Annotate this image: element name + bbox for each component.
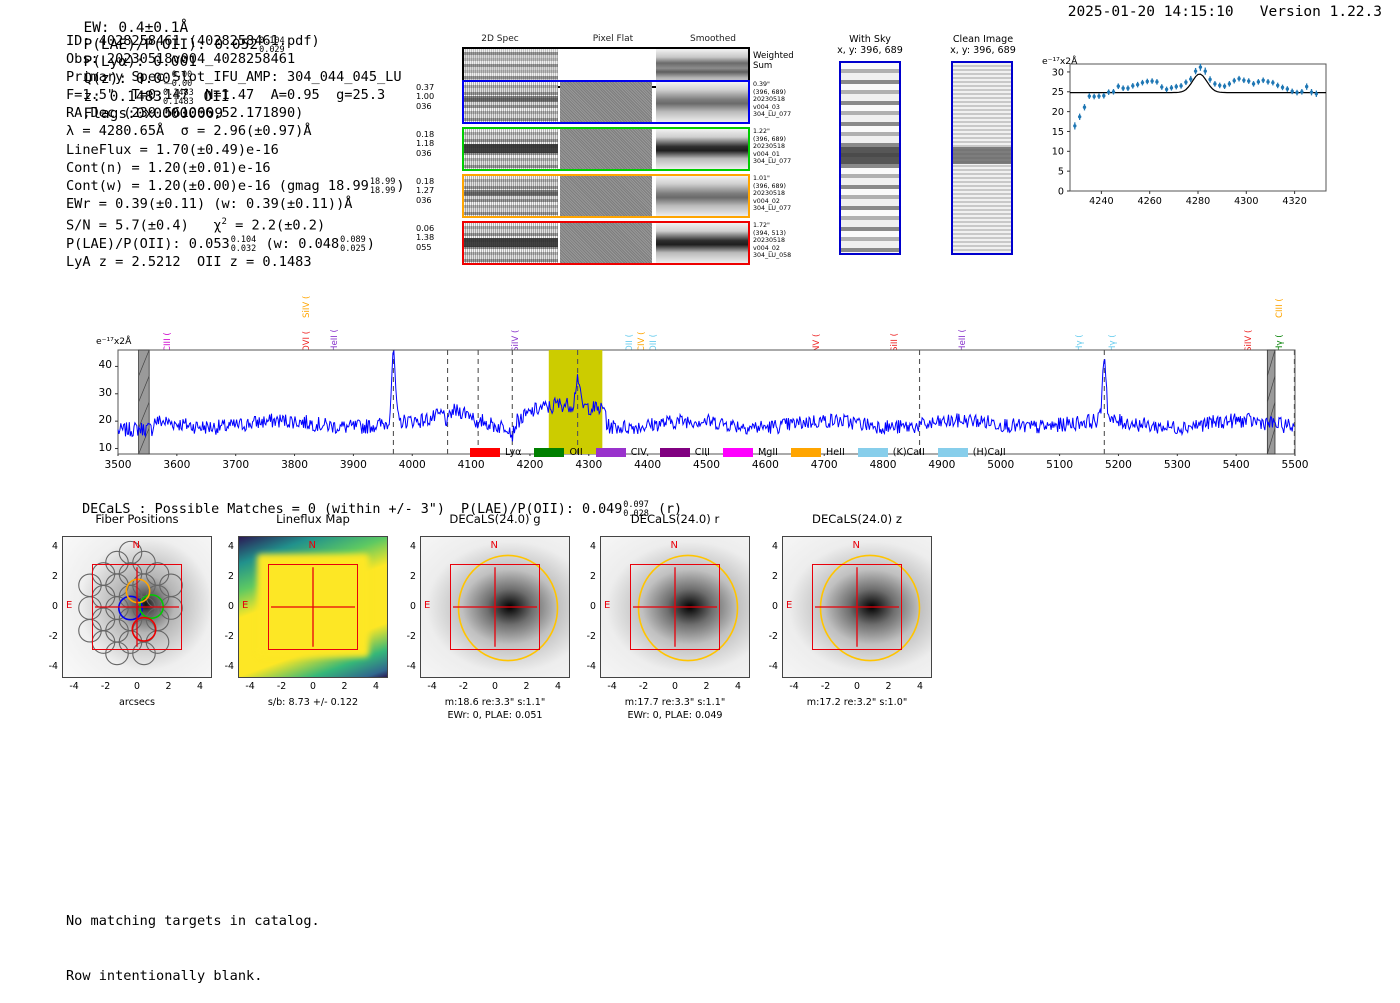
- panel-xtick: -4: [600, 681, 624, 692]
- panel-xtick: -2: [94, 681, 118, 692]
- panel-ytick: -2: [758, 631, 778, 642]
- panel-caption-1: m:17.2 re:3.2" s:1.0": [754, 697, 960, 709]
- compass-north: N: [491, 540, 498, 551]
- emission-line-label: SiIV (: [302, 296, 312, 318]
- panel-ytick: 4: [38, 541, 58, 552]
- panel-ytick: 2: [38, 571, 58, 582]
- panel-ytick: -4: [576, 661, 596, 672]
- panel-ytick: 0: [758, 601, 778, 612]
- info-continuum-wide: Cont(w) = 1.20(±0.00)e-16 (gmag 18.9918.…: [66, 177, 405, 195]
- legend-label: CIII: [695, 447, 710, 458]
- panel-ytick: -4: [758, 661, 778, 672]
- panel-xtick: -4: [62, 681, 86, 692]
- legend-item: CIV: [596, 447, 647, 458]
- fiber-smoothed-image: [656, 82, 748, 122]
- panel-ytick: -4: [214, 661, 234, 672]
- panel-xtick: 2: [877, 681, 901, 692]
- svg-text:4260: 4260: [1137, 196, 1161, 207]
- svg-text:10: 10: [1052, 147, 1064, 158]
- legend-item: Lyα: [470, 447, 521, 458]
- panel-ytick: -4: [396, 661, 416, 672]
- clean-image-title: Clean Imagex, y: 396, 689: [930, 34, 1036, 57]
- svg-text:5: 5: [1058, 167, 1064, 178]
- fiber-pixelflat-image: [560, 129, 652, 169]
- legend-item: MgII: [723, 447, 778, 458]
- legend-swatch: [723, 448, 753, 457]
- info-wavelength-sigma: λ = 4280.65Å σ = 2.96(±0.97)Å: [66, 122, 405, 140]
- panel-xtick: 0: [483, 681, 507, 692]
- plae-range: 0.1040.032: [231, 236, 257, 254]
- emission-line-legend: LyαOIICIVCIIIMgIIHeII(K)CaII(H)CaII: [470, 447, 1006, 458]
- info-primary-spec-slot: Primary Spec_Slot_IFU_AMP: 304_044_045_L…: [66, 68, 405, 86]
- info-plae-poii: P(LAE)/P(OII): 0.0530.1040.032 (w: 0.048…: [66, 235, 405, 253]
- xtick-label: 4100: [445, 459, 497, 471]
- ytick-label: 20: [82, 414, 112, 426]
- ytick-label: 10: [82, 442, 112, 454]
- info-continuum-narrow: Cont(n) = 1.20(±0.01)e-16: [66, 159, 405, 177]
- panel-caption-1: s/b: 8.73 +/- 0.122: [210, 697, 416, 709]
- panel-ytick: 4: [758, 541, 778, 552]
- clean-image-trace: [953, 147, 1011, 164]
- full-spectrum-units-label: e⁻¹⁷x2Å: [96, 336, 131, 347]
- col-header-smoothed: Smoothed: [658, 34, 768, 44]
- panel-ytick: 4: [396, 541, 416, 552]
- panel-ytick: 0: [576, 601, 596, 612]
- legend-label: (H)CaII: [973, 447, 1006, 458]
- legend-swatch: [660, 448, 690, 457]
- xtick-label: 4800: [857, 459, 909, 471]
- panel-caption-2: EWr: 0, PLAE: 0.051: [392, 710, 598, 722]
- xtick-label: 4700: [798, 459, 850, 471]
- xtick-label: 4200: [504, 459, 556, 471]
- panel-xtick: 2: [333, 681, 357, 692]
- emission-line-labels: CIII (OVI (SiIV (HeII (SiIV (OII (CIV (O…: [88, 268, 1303, 346]
- fiber-2dspec-image: [464, 82, 558, 122]
- zoom-line-plot: 05101520253042404260428043004320 e⁻¹⁷x2Å: [1034, 52, 1334, 217]
- legend-swatch: [596, 448, 626, 457]
- svg-text:0: 0: [1058, 186, 1064, 197]
- fiber-left-stats: 0.06 1.38 055: [416, 224, 434, 252]
- panel-xtick: -4: [420, 681, 444, 692]
- legend-label: OII: [569, 447, 582, 458]
- info-id: ID: 4028258461 (4028258461.pdf): [66, 32, 405, 50]
- panel-ytick: 0: [214, 601, 234, 612]
- svg-text:4320: 4320: [1282, 196, 1306, 207]
- svg-text:20: 20: [1052, 107, 1064, 118]
- xtick-label: 4600: [739, 459, 791, 471]
- legend-swatch: [534, 448, 564, 457]
- fiber-smoothed-image: [656, 129, 748, 169]
- legend-label: HeII: [826, 447, 845, 458]
- panel-xtick: 2: [157, 681, 181, 692]
- panel-xtick: 4: [546, 681, 570, 692]
- fiber-pixelflat-image: [560, 176, 652, 216]
- panel-ytick: 4: [214, 541, 234, 552]
- compass-north: N: [133, 540, 140, 551]
- fiber-trace-dark: [464, 190, 558, 196]
- panel-xtick: 0: [663, 681, 687, 692]
- gmag-range: 18.9918.99: [370, 178, 396, 196]
- legend-item: HeII: [791, 447, 845, 458]
- panel-ytick: -4: [38, 661, 58, 672]
- xtick-label: 3900: [327, 459, 379, 471]
- fiber-trace-dark: [464, 144, 558, 153]
- xtick-label: 5400: [1210, 459, 1262, 471]
- xtick-label: 5500: [1269, 459, 1321, 471]
- compass-east: E: [66, 600, 72, 611]
- xtick-label: 5100: [1034, 459, 1086, 471]
- svg-text:25: 25: [1052, 87, 1064, 98]
- xtick-label: 5300: [1151, 459, 1203, 471]
- fiber-right-meta: 1.22" (396, 689) 20230518 v004_01 304_LU…: [753, 128, 791, 166]
- legend-item: OII: [534, 447, 582, 458]
- plae-wide-range: 0.0890.025: [340, 236, 366, 254]
- col-header-pixelflat: Pixel Flat: [558, 34, 668, 44]
- fiber-2dspec-image: [464, 176, 558, 216]
- fiber-left-stats: 0.18 1.27 036: [416, 177, 434, 205]
- full-spectrum-svg: [88, 346, 1303, 456]
- panel-xtick: -2: [270, 681, 294, 692]
- compass-east: E: [424, 600, 430, 611]
- fiber-right-meta: 1.72" (394, 513) 20230518 v004_02 304_LU…: [753, 222, 791, 260]
- fiber-2dspec-image: [464, 129, 558, 169]
- aperture-square: [630, 564, 720, 649]
- legend-swatch: [938, 448, 968, 457]
- panel-xtick: -2: [452, 681, 476, 692]
- panel-ytick: -2: [396, 631, 416, 642]
- panel-xtick: 2: [515, 681, 539, 692]
- svg-text:4280: 4280: [1186, 196, 1210, 207]
- legend-item: (K)CaII: [858, 447, 925, 458]
- panel-title: Lineflux Map: [216, 512, 410, 526]
- panel-xtick: 0: [125, 681, 149, 692]
- panel-title: Fiber Positions: [40, 512, 234, 526]
- panel-ytick: -2: [214, 631, 234, 642]
- weighted-sum-label: Weighted Sum: [753, 52, 794, 72]
- two-d-spectra-montage: 2D Spec Pixel Flat Smoothed Weighted Sum…: [440, 34, 820, 259]
- fiber-2dspec-image: [464, 223, 558, 263]
- aperture-square: [268, 564, 358, 649]
- clean-image: [951, 61, 1013, 255]
- with-sky-trace: [841, 147, 899, 164]
- xtick-label: 4400: [622, 459, 674, 471]
- compass-north: N: [309, 540, 316, 551]
- panel-xtick: -2: [632, 681, 656, 692]
- info-seeing: F=1.5" T=0.147 N=1.47 A=0.95 g=25.3: [66, 86, 405, 104]
- legend-item: (H)CaII: [938, 447, 1006, 458]
- legend-label: MgII: [758, 447, 778, 458]
- timestamp-version: 2025-01-20 14:15:10 Version 1.22.3: [1068, 4, 1382, 20]
- panel-title: DECaLS(24.0) g: [398, 512, 592, 526]
- legend-label: Lyα: [505, 447, 521, 458]
- aperture-square: [812, 564, 902, 649]
- info-ewr: EWr = 0.39(±0.11) (w: 0.39(±0.11))Å: [66, 195, 405, 213]
- footer-line-1: No matching targets in catalog.: [66, 912, 320, 930]
- full-spectrum-panel: CIII (OVI (SiIV (HeII (SiIV (OII (CIV (O…: [88, 268, 1303, 448]
- panel-xtick: -4: [238, 681, 262, 692]
- panel-caption-2: EWr: 0, PLAE: 0.049: [572, 710, 778, 722]
- with-sky-title: With Skyx, y: 396, 689: [820, 34, 920, 57]
- panel-ytick: -2: [576, 631, 596, 642]
- fiber-pixelflat-image: [560, 82, 652, 122]
- xtick-label: 3800: [269, 459, 321, 471]
- fiber-trace-dark: [464, 238, 558, 247]
- info-sn-chi2: S/N = 5.7(±0.4) χ2 = 2.2(±0.2): [66, 213, 405, 235]
- aperture-square: [92, 564, 182, 649]
- with-sky-image: [839, 61, 901, 255]
- info-lineflux: LineFlux = 1.70(±0.49)e-16: [66, 141, 405, 159]
- ytick-label: 30: [82, 387, 112, 399]
- legend-label: CIV: [631, 447, 647, 458]
- xtick-label: 5200: [1092, 459, 1144, 471]
- fiber-row: [462, 221, 750, 265]
- legend-item: CIII: [660, 447, 710, 458]
- panel-ytick: 0: [396, 601, 416, 612]
- emission-line-label: CIII (: [1275, 298, 1285, 318]
- panel-xtick: 4: [364, 681, 388, 692]
- legend-swatch: [858, 448, 888, 457]
- detection-info-block: ID: 4028258461 (4028258461.pdf) Obs: 202…: [66, 32, 405, 271]
- fiber-row: [462, 127, 750, 171]
- xtick-label: 4500: [681, 459, 733, 471]
- panel-ytick: 4: [576, 541, 596, 552]
- panel-xtick: -4: [782, 681, 806, 692]
- xtick-label: 4000: [386, 459, 438, 471]
- xtick-label: 4300: [563, 459, 615, 471]
- compass-east: E: [786, 600, 792, 611]
- footer-line-2: Row intentionally blank.: [66, 967, 320, 985]
- panel-xtick: 4: [726, 681, 750, 692]
- info-radec: RA,Dec (239.561066,52.171890): [66, 104, 405, 122]
- footer-note: No matching targets in catalog. Row inte…: [66, 876, 320, 1003]
- fiber-trace-dark: [464, 96, 558, 102]
- aperture-square: [450, 564, 540, 649]
- panel-xtick: 4: [188, 681, 212, 692]
- ytick-label: 40: [82, 359, 112, 371]
- xtick-label: 3500: [92, 459, 144, 471]
- xtick-label: 4900: [916, 459, 968, 471]
- compass-north: N: [671, 540, 678, 551]
- legend-label: (K)CaII: [893, 447, 925, 458]
- fiber-left-stats: 0.37 1.00 036: [416, 83, 434, 111]
- info-obs: Obs: 20230518v004_4028258461: [66, 50, 405, 68]
- legend-swatch: [791, 448, 821, 457]
- panel-xtick: -2: [814, 681, 838, 692]
- panel-xtick: 4: [908, 681, 932, 692]
- panel-xtick: 0: [301, 681, 325, 692]
- xtick-label: 3600: [151, 459, 203, 471]
- panel-title: DECaLS(24.0) r: [578, 512, 772, 526]
- compass-east: E: [604, 600, 610, 611]
- zoom-units-label: e⁻¹⁷x2Å: [1042, 56, 1077, 67]
- legend-swatch: [470, 448, 500, 457]
- fiber-row: [462, 174, 750, 218]
- panel-title: DECaLS(24.0) z: [760, 512, 954, 526]
- zoom-line-plot-svg: 05101520253042404260428043004320: [1034, 52, 1334, 217]
- panel-ytick: 2: [576, 571, 596, 582]
- svg-text:4300: 4300: [1234, 196, 1258, 207]
- fiber-smoothed-image: [656, 176, 748, 216]
- panel-ytick: 0: [38, 601, 58, 612]
- fiber-row: [462, 80, 750, 124]
- panel-xtick: 0: [845, 681, 869, 692]
- panel-ytick: 2: [214, 571, 234, 582]
- panel-ytick: -2: [38, 631, 58, 642]
- svg-text:30: 30: [1052, 67, 1064, 78]
- panel-ytick: 2: [396, 571, 416, 582]
- fiber-left-stats: 0.18 1.18 036: [416, 130, 434, 158]
- fiber-smoothed-image: [656, 223, 748, 263]
- xtick-label: 5000: [975, 459, 1027, 471]
- panel-ytick: 2: [758, 571, 778, 582]
- compass-north: N: [853, 540, 860, 551]
- xtick-label: 3700: [210, 459, 262, 471]
- panel-caption-1: m:18.6 re:3.3" s:1.1": [392, 697, 598, 709]
- svg-text:15: 15: [1052, 127, 1064, 138]
- col-header-2dspec: 2D Spec: [440, 34, 560, 44]
- panel-caption-1: m:17.7 re:3.3" s:1.1": [572, 697, 778, 709]
- panel-xtick: 2: [695, 681, 719, 692]
- fiber-right-meta: 1.01" (396, 689) 20230518 v004_02 304_LU…: [753, 175, 791, 213]
- svg-text:4240: 4240: [1089, 196, 1113, 207]
- fiber-pixelflat-image: [560, 223, 652, 263]
- fiber-right-meta: 0.39" (396, 689) 20230518 v004_03 304_LU…: [753, 81, 791, 119]
- compass-east: E: [242, 600, 248, 611]
